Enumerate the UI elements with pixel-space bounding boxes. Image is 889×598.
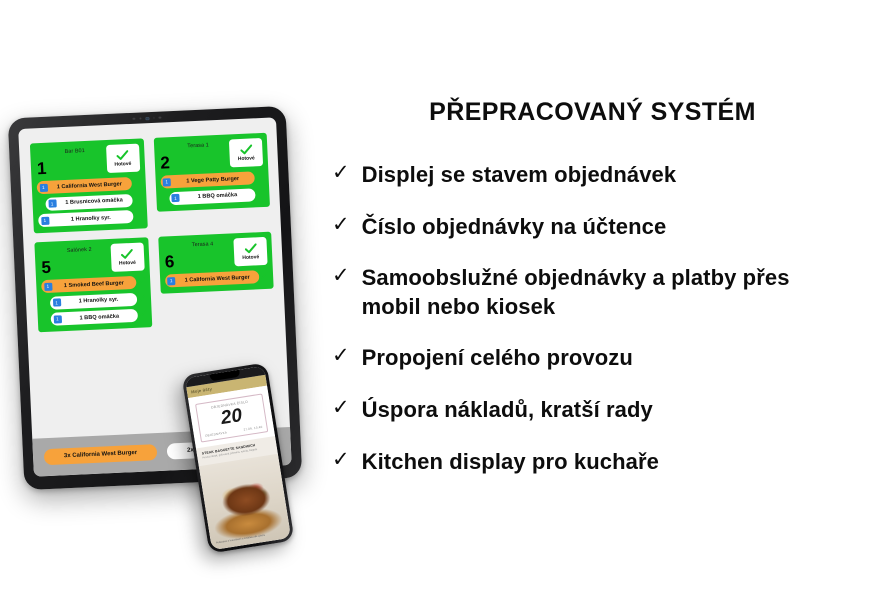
sensor-dot-icon: [132, 118, 135, 121]
check-icon: [121, 248, 133, 259]
order-number: 6: [163, 253, 174, 271]
order-done-label: Hotové: [242, 254, 259, 261]
order-number: 2: [159, 154, 170, 172]
item-label: 1 Hranolky syr.: [49, 213, 133, 223]
order-item-row[interactable]: 1 1 Smoked Beef Burger: [41, 275, 145, 293]
check-icon: ✓: [332, 264, 350, 289]
order-item-pill[interactable]: 1 1 California West Burger: [37, 177, 132, 194]
sensor-dot-icon: [153, 117, 155, 119]
order-card[interactable]: 5 Salónek 2 Hotové: [34, 237, 151, 332]
receipt-meta-left: OBJEDNÁVKA: [205, 430, 228, 437]
phone-app-title: Moje účty: [191, 386, 213, 394]
phone-appbar-icon-group: [245, 379, 262, 386]
item-check-icon[interactable]: [132, 195, 141, 202]
check-icon: ✓: [332, 396, 350, 421]
item-check-icon[interactable]: [255, 189, 264, 196]
check-icon: [116, 150, 128, 161]
order-number: 5: [40, 259, 51, 277]
item-check-icon[interactable]: [136, 277, 145, 284]
order-card-header: 6 Terasa 4 Hotové: [163, 237, 268, 272]
order-item-row[interactable]: 1 1 Brusnicová omáčka: [37, 193, 141, 211]
list-item-label: Úspora nákladů, kratší rady: [362, 396, 653, 425]
order-table-name: Salónek 2: [50, 244, 110, 255]
check-icon: ✓: [332, 213, 350, 238]
list-item-label: Samoobslužné objednávky a platby přes mo…: [362, 264, 832, 321]
order-item-row[interactable]: 1 1 Vege Patty Burger: [160, 171, 264, 189]
order-item-pill[interactable]: 1 1 California West Burger: [164, 270, 259, 287]
order-done-label: Hotové: [119, 259, 136, 266]
list-item: ✓ Propojení celého provozu: [332, 344, 879, 373]
check-icon: ✓: [332, 448, 350, 473]
order-done-button[interactable]: Hotové: [110, 242, 144, 271]
order-table-name: Terasa 1: [169, 139, 229, 150]
item-check-icon[interactable]: [254, 173, 263, 180]
item-check-icon[interactable]: [137, 310, 146, 317]
bell-icon[interactable]: [245, 381, 250, 386]
item-label: 1 Vege Patty Burger: [171, 175, 255, 185]
item-label: 1 Hranolky syr.: [60, 296, 136, 305]
order-item-row[interactable]: 1 1 California West Burger: [37, 177, 141, 195]
order-item-pill[interactable]: 1 1 Brusnicová omáčka: [45, 193, 132, 210]
tablet-sensor-array: [132, 116, 161, 121]
list-item: ✓ Číslo objednávky na účtence: [332, 213, 879, 242]
order-done-button[interactable]: Hotové: [233, 237, 267, 266]
list-item-label: Propojení celého provozu: [362, 344, 633, 373]
check-icon: ✓: [332, 344, 350, 369]
list-item: ✓ Kitchen display pro kuchaře: [332, 448, 879, 477]
order-item-pill[interactable]: 1 1 BBQ omáčka: [51, 309, 138, 326]
order-item-row[interactable]: 1 1 California West Burger: [164, 270, 268, 288]
promo-slide: 1 Bar B01 Hotové: [0, 0, 889, 598]
order-card[interactable]: 2 Terasa 1 Hotové: [153, 133, 270, 212]
item-label: 1 California West Burger: [175, 274, 259, 284]
order-done-button[interactable]: Hotové: [229, 138, 263, 167]
check-icon: [240, 144, 252, 155]
item-label: 1 Brusnicová omáčka: [56, 197, 132, 206]
list-item: ✓ Displej se stavem objednávek: [332, 161, 879, 190]
list-item: ✓ Úspora nákladů, kratší rady: [332, 396, 879, 425]
summary-pill[interactable]: 3x California West Burger: [44, 444, 158, 465]
feature-list: ✓ Displej se stavem objednávek ✓ Číslo o…: [328, 161, 879, 476]
user-icon[interactable]: [252, 380, 257, 385]
order-item-row[interactable]: 1 1 BBQ omáčka: [43, 308, 147, 326]
order-item-row[interactable]: 1 1 Hranolky syr.: [42, 292, 146, 310]
item-label: 1 California West Burger: [47, 180, 131, 190]
menu-icon[interactable]: [258, 379, 263, 384]
sensor-dot-icon: [139, 117, 142, 120]
order-item-pill[interactable]: 1 1 Smoked Beef Burger: [41, 276, 136, 293]
list-item: ✓ Samoobslužné objednávky a platby přes …: [332, 264, 879, 321]
device-mockup-group: 1 Bar B01 Hotové: [0, 0, 330, 598]
item-label: 1 BBQ omáčka: [179, 191, 255, 200]
page-title: PŘEPRACOVANÝ SYSTÉM: [328, 98, 879, 127]
sensor-dot-icon: [159, 116, 162, 119]
list-item-label: Displej se stavem objednávek: [362, 161, 677, 190]
order-item-row[interactable]: 1 1 BBQ omáčka: [161, 187, 265, 205]
order-card-header: 5 Salónek 2 Hotové: [40, 242, 145, 277]
order-item-pill[interactable]: 1 1 BBQ omáčka: [169, 188, 256, 205]
order-card-header: 2 Terasa 1 Hotové: [158, 138, 263, 173]
phone-menu-item-section[interactable]: STEAK BAGUETTE SANDWICH Hovězí steak, gr…: [196, 436, 291, 550]
item-check-icon[interactable]: [259, 272, 268, 279]
order-card[interactable]: 1 Bar B01 Hotové: [30, 138, 147, 233]
order-done-button[interactable]: Hotové: [106, 144, 140, 173]
order-item-pill[interactable]: 1 1 Hranolky syr.: [38, 210, 133, 227]
list-item-label: Číslo objednávky na účtence: [362, 213, 667, 242]
order-done-label: Hotové: [238, 155, 255, 162]
order-item-pill[interactable]: 1 1 Hranolky syr.: [50, 292, 137, 309]
check-icon: [244, 243, 256, 254]
feature-content: PŘEPRACOVANÝ SYSTÉM ✓ Displej se stavem …: [328, 0, 889, 598]
item-label: 1 BBQ omáčka: [61, 312, 137, 321]
order-number-receipt-card: OBJEDNÁVKA ČÍSLO 20 OBJEDNÁVKA 27.09. 13…: [195, 393, 268, 442]
order-table-name: Terasa 4: [173, 238, 233, 249]
front-camera-icon: [146, 117, 150, 121]
order-item-pill[interactable]: 1 1 Vege Patty Burger: [160, 171, 255, 188]
item-check-icon[interactable]: [136, 294, 145, 301]
order-number: 1: [36, 160, 47, 178]
order-item-row[interactable]: 1 1 Hranolky syr.: [38, 210, 142, 228]
item-label: 1 Smoked Beef Burger: [52, 279, 136, 289]
list-item-label: Kitchen display pro kuchaře: [362, 448, 659, 477]
order-card[interactable]: 6 Terasa 4 Hotové: [158, 232, 274, 294]
order-table-name: Bar B01: [46, 145, 106, 156]
order-card-header: 1 Bar B01 Hotové: [35, 144, 140, 179]
check-icon: ✓: [332, 161, 350, 186]
order-done-label: Hotové: [114, 160, 131, 167]
receipt-meta-right: 27.09. 13:40: [243, 425, 262, 432]
item-check-icon[interactable]: [131, 179, 140, 186]
item-check-icon[interactable]: [133, 212, 142, 219]
